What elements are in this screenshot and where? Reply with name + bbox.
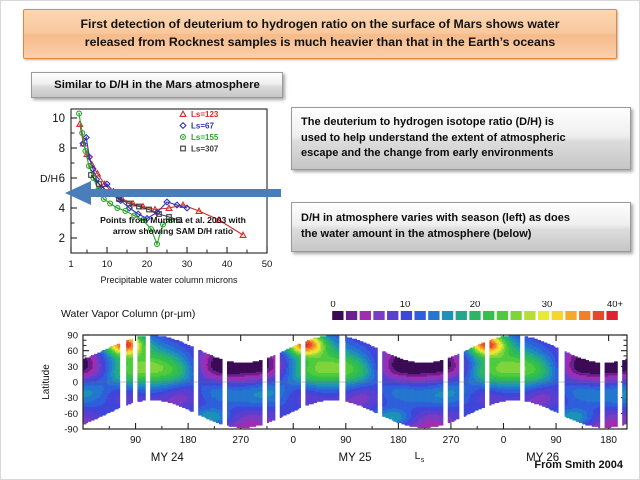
svg-text:10: 10: [102, 259, 113, 270]
svg-text:Ls=307: Ls=307: [191, 145, 219, 154]
water-vapor-heatmap-chart: Water Vapor Column (pr-μm)010203040+9060…: [35, 301, 637, 473]
callout-dh-definition-text: The deuterium to hydrogen isotope ratio …: [292, 115, 575, 162]
season-line-1: D/H in atmosphere varies with season (le…: [301, 212, 570, 224]
svg-text:-30: -30: [64, 393, 78, 404]
svg-text:270: 270: [232, 435, 249, 446]
svg-text:4: 4: [59, 203, 66, 215]
svg-text:30: 30: [542, 301, 553, 310]
svg-text:30: 30: [182, 259, 193, 270]
svg-text:Ls=123: Ls=123: [191, 110, 219, 119]
svg-text:50: 50: [262, 259, 273, 270]
source-credit: From Smith 2004: [534, 459, 623, 471]
svg-text:Water Vapor Column (pr-μm): Water Vapor Column (pr-μm): [61, 308, 195, 320]
svg-text:L: L: [415, 450, 421, 462]
svg-text:180: 180: [390, 435, 407, 446]
slide-title-banner: First detection of deuterium to hydrogen…: [23, 9, 617, 59]
page-title: First detection of deuterium to hydrogen…: [71, 16, 570, 52]
svg-text:270: 270: [443, 435, 460, 446]
svg-text:Points from Mumma et al. 2003: Points from Mumma et al. 2003 with: [100, 215, 246, 225]
page-title-line-1: First detection of deuterium to hydrogen…: [81, 17, 560, 31]
svg-text:s: s: [421, 457, 425, 464]
svg-text:-90: -90: [64, 425, 78, 436]
svg-text:0: 0: [330, 301, 335, 310]
svg-text:2: 2: [59, 233, 65, 245]
svg-text:10: 10: [400, 301, 411, 310]
svg-text:MY 24: MY 24: [151, 452, 185, 464]
callout-similar-dh-text: Similar to D/H in the Mars atmosphere: [45, 77, 269, 93]
svg-text:40: 40: [222, 259, 233, 270]
dh-scatter-chart: 246810D/H11020304050Precipitable water c…: [33, 101, 285, 293]
svg-text:Ls=67: Ls=67: [191, 122, 214, 131]
svg-text:6: 6: [59, 173, 65, 185]
svg-text:20: 20: [142, 259, 153, 270]
water-vapor-heatmap-svg: Water Vapor Column (pr-μm)010203040+9060…: [35, 301, 637, 473]
svg-text:0: 0: [73, 378, 78, 389]
callout-dh-definition: The deuterium to hydrogen isotope ratio …: [291, 107, 631, 170]
svg-text:10: 10: [52, 113, 65, 125]
svg-text:180: 180: [600, 435, 617, 446]
definition-line-3: escape and the change from early environ…: [301, 147, 553, 159]
definition-line-2: used to help understand the extent of at…: [301, 132, 566, 144]
definition-line-1: The deuterium to hydrogen isotope ratio …: [301, 116, 554, 128]
svg-text:-60: -60: [64, 409, 78, 420]
slide-canvas: First detection of deuterium to hydrogen…: [0, 0, 640, 480]
svg-text:90: 90: [340, 435, 352, 446]
svg-text:Latitude: Latitude: [41, 364, 52, 400]
callout-dh-season-text: D/H in atmosphere varies with season (le…: [292, 211, 579, 242]
svg-text:8: 8: [59, 143, 65, 155]
svg-text:D/H: D/H: [40, 173, 58, 185]
svg-text:20: 20: [470, 301, 481, 310]
callout-dh-season: D/H in atmosphere varies with season (le…: [291, 202, 631, 252]
svg-text:Ls=155: Ls=155: [191, 133, 219, 142]
svg-text:0: 0: [501, 435, 507, 446]
svg-text:90: 90: [67, 331, 78, 342]
svg-text:30: 30: [67, 362, 78, 373]
svg-text:60: 60: [67, 346, 78, 357]
svg-text:1: 1: [68, 259, 73, 270]
season-line-2: the water amount in the atmosphere (belo…: [301, 228, 531, 240]
svg-text:0: 0: [290, 435, 296, 446]
dh-scatter-svg: 246810D/H11020304050Precipitable water c…: [33, 101, 285, 293]
svg-text:MY 25: MY 25: [338, 452, 371, 464]
svg-text:90: 90: [130, 435, 142, 446]
svg-text:180: 180: [180, 435, 197, 446]
callout-similar-dh: Similar to D/H in the Mars atmosphere: [31, 72, 283, 98]
svg-text:Precipitable water column mic: Precipitable water column microns: [100, 275, 238, 285]
svg-text:90: 90: [550, 435, 562, 446]
svg-text:arrow showing SAM D/H ratio: arrow showing SAM D/H ratio: [113, 226, 233, 236]
page-title-line-2: released from Rocknest samples is much h…: [85, 35, 555, 49]
svg-text:40+: 40+: [607, 301, 624, 310]
